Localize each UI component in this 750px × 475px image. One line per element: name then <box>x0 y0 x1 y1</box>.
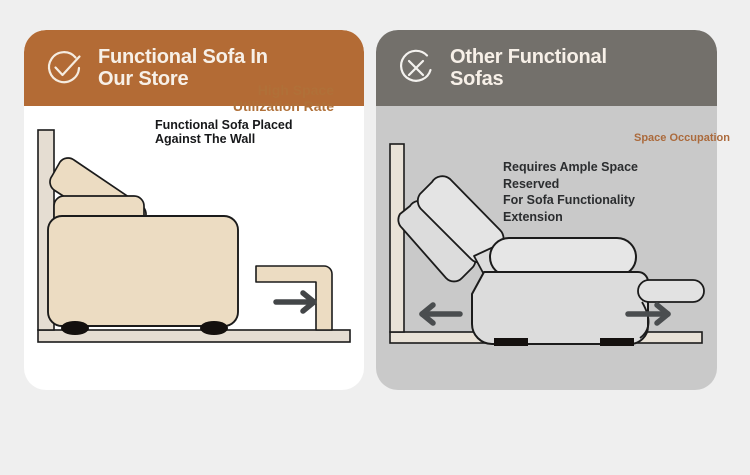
comparison-graphic: Functional Sofa In Our Store <box>0 0 750 475</box>
right-panel-title: Other Functional Sofas <box>450 46 607 90</box>
arrow-left-icon <box>422 305 460 323</box>
left-illustration <box>24 106 364 390</box>
left-accent-text: High Space Utilization Rate <box>146 82 334 114</box>
panel-other-functional-sofas: Other Functional Sofas <box>376 30 717 390</box>
right-illustration <box>376 106 717 390</box>
right-body-text: Requires Ample Space Reserved For Sofa F… <box>503 159 717 225</box>
check-circle-icon <box>42 46 86 90</box>
x-circle-icon <box>394 46 438 90</box>
left-body-text: Functional Sofa Placed Against The Wall <box>155 119 341 146</box>
panel-functional-sofa-our-store: Functional Sofa In Our Store <box>24 30 364 390</box>
arrow-right-icon <box>276 293 314 311</box>
right-panel-header: Other Functional Sofas <box>376 30 717 106</box>
space-occupation-label: Space Occupation <box>634 132 730 144</box>
